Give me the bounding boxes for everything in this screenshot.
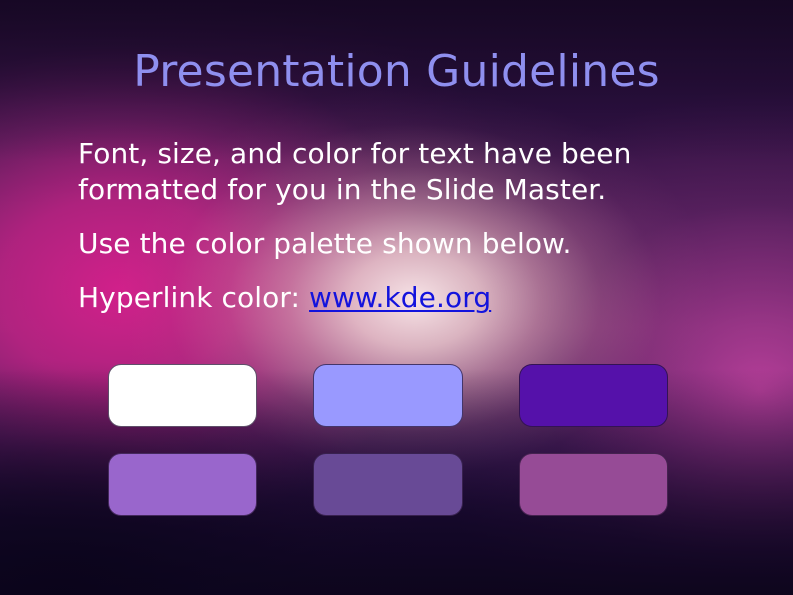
swatch-white — [108, 364, 257, 427]
presentation-slide: Presentation Guidelines Font, size, and … — [0, 0, 793, 595]
swatch-deep-violet — [519, 364, 668, 427]
swatch-magenta-purple — [519, 453, 668, 516]
body-paragraph-3: Hyperlink color: www.kde.org — [78, 280, 738, 316]
swatch-muted-purple — [313, 453, 462, 516]
hyperlink-label: Hyperlink color: — [78, 281, 309, 314]
slide-title: Presentation Guidelines — [0, 44, 793, 100]
slide-content: Presentation Guidelines Font, size, and … — [0, 0, 793, 595]
slide-body: Font, size, and color for text have been… — [78, 136, 738, 316]
color-palette-grid — [108, 364, 668, 516]
palette-row-2 — [108, 453, 668, 516]
kde-hyperlink[interactable]: www.kde.org — [309, 281, 491, 314]
swatch-periwinkle — [313, 364, 462, 427]
body-paragraph-2: Use the color palette shown below. — [78, 226, 738, 262]
palette-row-1 — [108, 364, 668, 427]
swatch-medium-purple — [108, 453, 257, 516]
body-paragraph-1: Font, size, and color for text have been… — [78, 136, 738, 208]
